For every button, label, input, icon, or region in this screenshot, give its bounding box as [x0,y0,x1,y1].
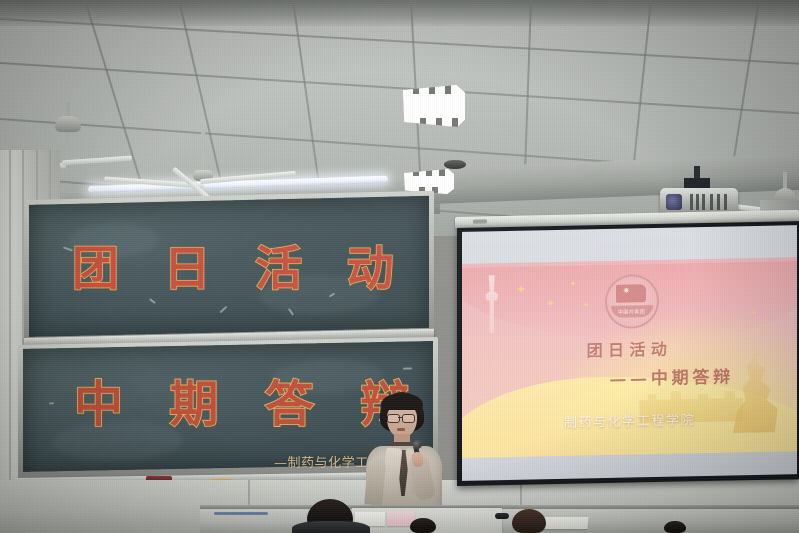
emblem-star: ✷ [623,287,631,296]
lamp-teeth [403,85,465,127]
blackboard-heading-top: 团 日 活 动 [72,230,408,299]
desk-pen[interactable] [214,512,268,515]
wall-speaker [444,160,466,169]
projection-screen[interactable]: ✦ ✦ ✦ ✦ ✦ ✦ ✷ 中国共青团 团日活动 ——中期答辩 制药与化学工程学… [457,221,799,486]
glasses-icon [402,414,415,423]
glasses-bridge [398,417,403,418]
projection-screen-surface: ✦ ✦ ✦ ✦ ✦ ✦ ✷ 中国共青团 团日活动 ——中期答辩 制药与化学工程学… [462,225,797,481]
slide-subtitle: ——中期答辩 [609,362,733,389]
projector-lens [666,194,682,210]
desk-object[interactable] [495,513,509,519]
presenter-fringe [381,394,423,410]
audience-head [512,509,546,533]
ceiling-seam [292,0,322,198]
emblem-flag [616,284,646,303]
youth-league-emblem: ✷ 中国共青团 [605,274,659,329]
fluorescent-lamp-upper [403,85,465,127]
presentation-slide: ✦ ✦ ✦ ✦ ✦ ✦ ✷ 中国共青团 团日活动 ——中期答辩 制药与化学工程学… [462,257,797,458]
ceiling-seam [631,0,652,179]
ceiling-shadow-edge [0,0,799,26]
slide-title: 团日活动 [462,333,797,364]
emblem-band-text: 中国共青团 [607,308,657,316]
microphone-head [413,440,422,449]
audience-head [664,521,686,533]
audience-shoulder [292,521,370,533]
presenter-mouth [397,428,405,431]
audience-head [410,518,436,533]
screen-brand-logo [473,219,487,223]
classroom-photo: 团 日 活 动 中 期 答 辩 —制药与化学工程学院 ✦ ✦ [0,0,799,533]
ceiling-seam [0,62,799,114]
glasses-icon [387,414,400,423]
